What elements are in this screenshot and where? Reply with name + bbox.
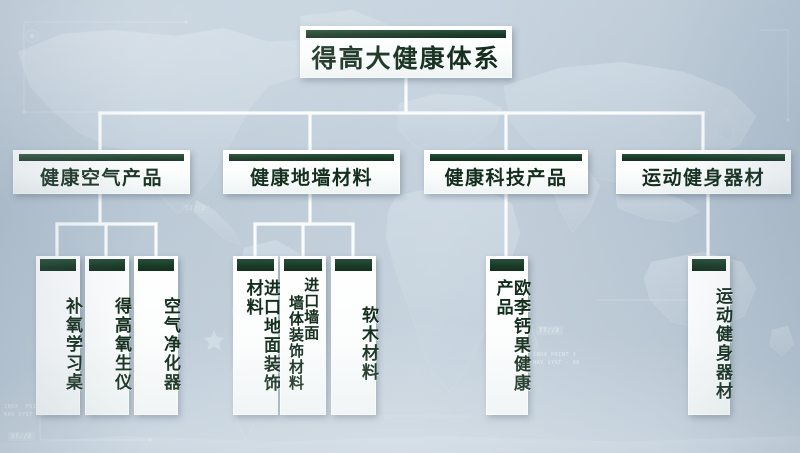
leaf-node-oxygen-desk[interactable]: 补氧学习桌 [36,256,80,415]
leaf-node-cork-material[interactable]: 软木材料 [331,256,376,415]
branch-node-health-air[interactable]: 健康空气产品 [13,150,190,194]
root-node[interactable]: 得高大健康体系 [300,26,512,78]
leaf-node-label: 得高氧生仪 [85,271,129,415]
leaf-node-cap [89,259,125,271]
leaf-node-cap [138,259,174,271]
branch-node-fitness[interactable]: 运动健身器材 [616,150,791,194]
branch-node-label: 健康科技产品 [424,161,588,194]
leaf-node-cap [284,259,322,271]
leaf-node-ouli-calcium-fruit[interactable]: 欧李钙果健康产品 [486,256,528,415]
leaf-node-imported-floor-material[interactable]: 进口地面装饰材料 [233,256,278,415]
leaf-node-label: 补氧学习桌 [36,271,80,415]
leaf-node-cap [335,259,372,271]
leaf-node-cap [490,259,524,271]
leaf-node-air-purifier[interactable]: 空气净化器 [134,256,178,415]
branch-node-label: 健康地墙材料 [223,161,400,194]
leaf-node-cap [40,259,76,271]
branch-node-cap [622,154,785,161]
leaf-node-label: 运动健身器材 [688,271,730,415]
root-node-label: 得高大健康体系 [300,38,512,78]
diagram-canvas: INDX POIN L NAV SYST OK ST//2 SI//2 INDX… [0,0,800,453]
leaf-node-cap [692,259,726,271]
leaf-node-fitness-equipment[interactable]: 运动健身器材 [688,256,730,415]
leaf-node-label: 进口墙面 墙体装饰材料 [280,271,326,415]
root-node-cap [306,30,506,38]
branch-node-cap [19,154,184,161]
leaf-node-cap [237,259,274,271]
leaf-node-label: 软木材料 [331,271,376,415]
branch-node-health-tech[interactable]: 健康科技产品 [424,150,588,194]
leaf-node-label: 进口地面装饰材料 [233,271,278,415]
branch-node-label: 健康空气产品 [13,161,190,194]
leaf-node-label-line1: 进口墙面 [303,277,318,409]
leaf-node-imported-wall-material[interactable]: 进口墙面 墙体装饰材料 [280,256,326,415]
branch-node-cap [229,154,394,161]
leaf-node-label-line2: 墙体装饰材料 [288,277,303,409]
leaf-node-label: 欧李钙果健康产品 [486,271,528,415]
leaf-node-label: 空气净化器 [134,271,178,415]
branch-node-floor-wall[interactable]: 健康地墙材料 [223,150,400,194]
branch-node-cap [430,154,582,161]
branch-node-label: 运动健身器材 [616,161,791,194]
leaf-node-oxygen-generator[interactable]: 得高氧生仪 [85,256,129,415]
